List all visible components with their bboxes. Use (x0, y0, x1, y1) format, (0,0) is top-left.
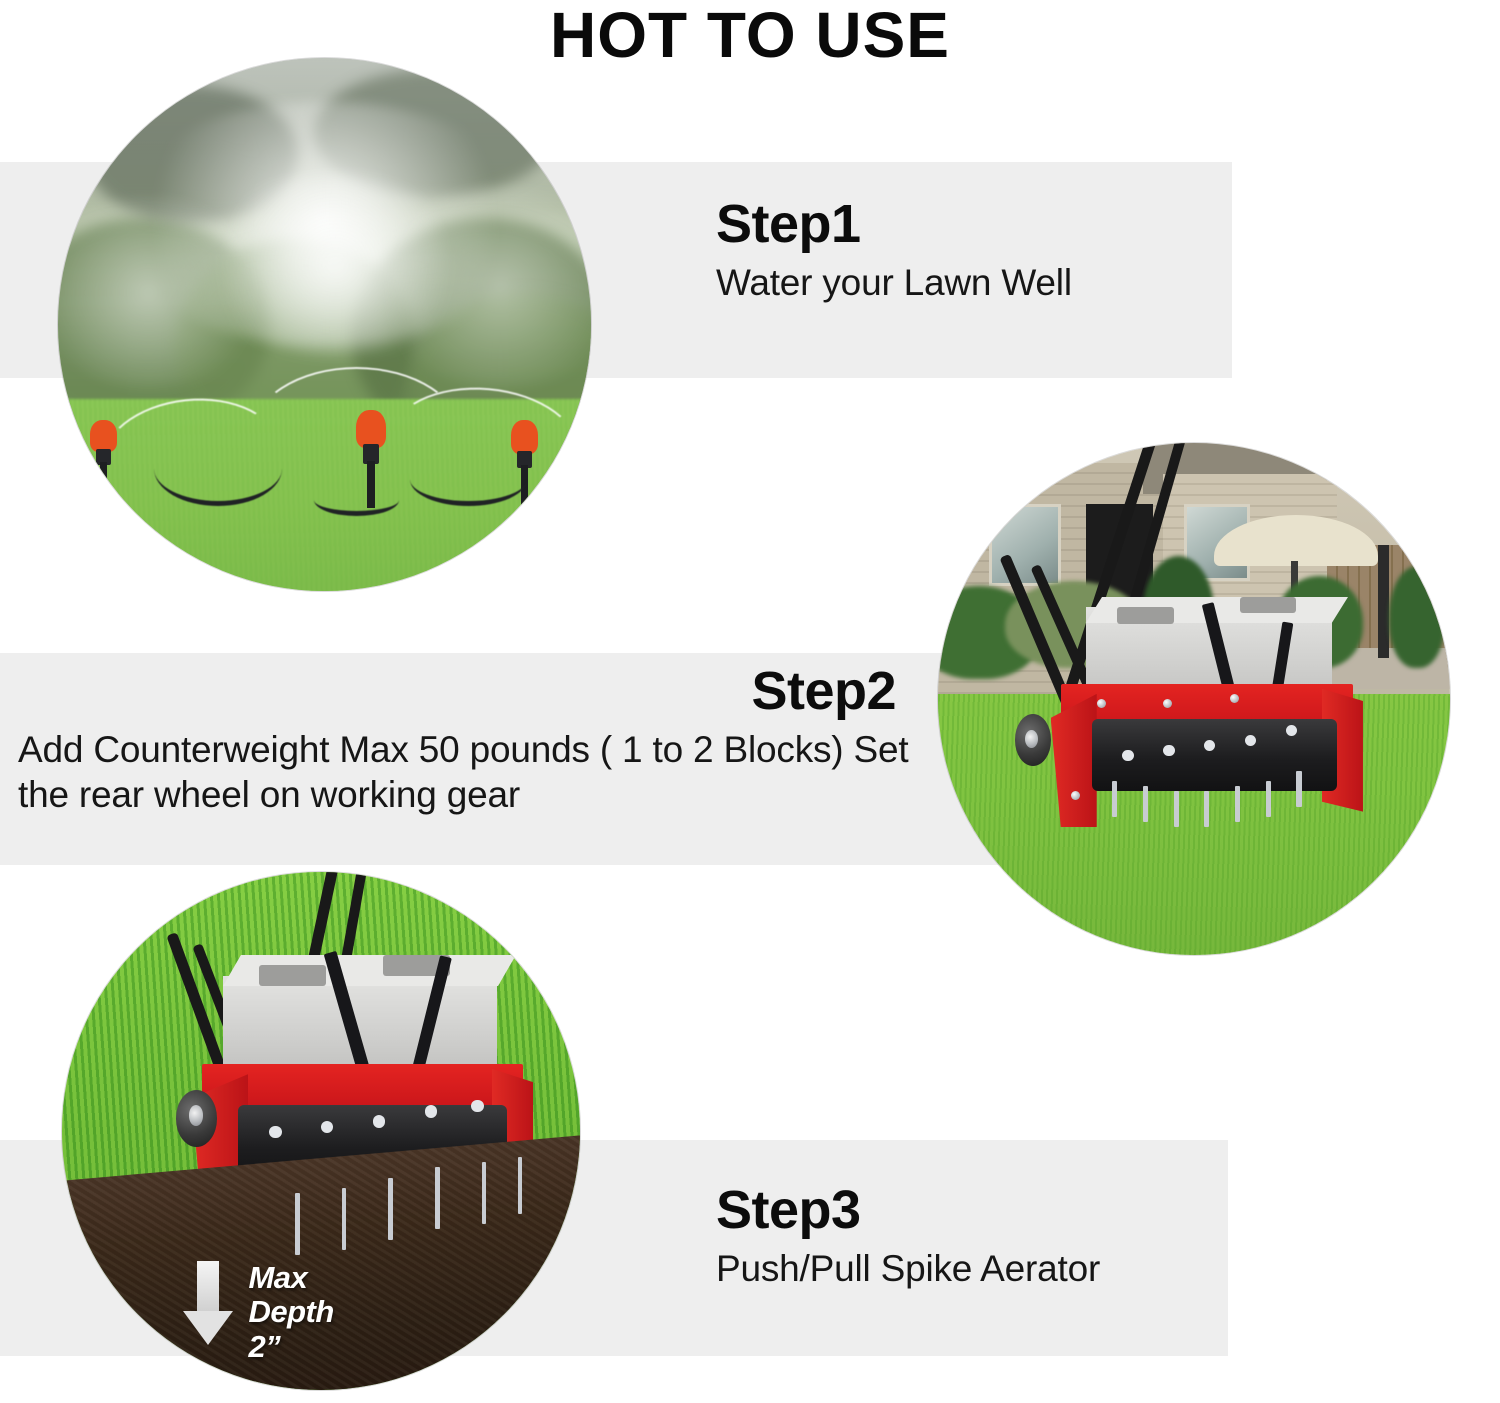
spike-head (1163, 745, 1174, 756)
frame-bolt (1097, 699, 1106, 708)
step3-heading: Step3 (716, 1182, 1236, 1239)
max-depth-line-3: 2” (248, 1330, 333, 1365)
spike-head (373, 1115, 385, 1127)
step1-text-block: Step1 Water your Lawn Well (716, 196, 1236, 305)
spike-head (269, 1126, 281, 1138)
aerator-spike-in-soil (295, 1193, 300, 1255)
step2-heading: Step2 (18, 663, 918, 720)
aerator-spike (1235, 786, 1240, 822)
max-depth-line-1: Max (248, 1261, 333, 1296)
step3-photo: Max Depth 2” (62, 872, 580, 1390)
aerator-spike (1143, 786, 1148, 822)
aerator-spike (1296, 771, 1301, 807)
aerator-spike-in-soil (518, 1157, 523, 1214)
max-depth-label: Max Depth 2” (248, 1261, 333, 1365)
garden-hose (154, 431, 282, 506)
step1-photo (58, 58, 591, 591)
block-cavity (1117, 607, 1173, 624)
aerator-spike-in-soil (342, 1188, 347, 1250)
step1-description: Water your Lawn Well (716, 260, 1236, 305)
aerator-cross-section-scene: Max Depth 2” (62, 872, 580, 1390)
aerator-spike (1112, 781, 1117, 817)
spike-head (1122, 750, 1133, 761)
aerator-spike-in-soil (388, 1178, 393, 1240)
aerator-spike-in-soil (435, 1167, 440, 1229)
sprinkler-head (90, 420, 117, 495)
spike-head (471, 1100, 483, 1112)
aerator-spike (1266, 781, 1271, 817)
block-cavity (1240, 597, 1296, 613)
house-window (989, 504, 1061, 586)
step3-text-block: Step3 Push/Pull Spike Aerator (716, 1182, 1236, 1291)
step1-heading: Step1 (716, 196, 1236, 253)
step2-photo (938, 443, 1450, 955)
sprinkler-scene (58, 58, 591, 591)
step3-description: Push/Pull Spike Aerator (716, 1246, 1236, 1291)
topiary-shrub (1389, 566, 1445, 668)
aerator-spike (1204, 791, 1209, 827)
step2-text-block: Step2 Add Counterweight Max 50 pounds ( … (18, 663, 918, 817)
patio-heater (1378, 545, 1388, 658)
backyard-scene (938, 443, 1450, 955)
block-cavity (259, 965, 326, 986)
aerator-spike-in-soil (482, 1162, 487, 1224)
max-depth-line-2: Depth (248, 1295, 333, 1330)
aerator-spike (1174, 791, 1179, 827)
frame-bolt (1230, 694, 1239, 703)
spike-head (425, 1105, 437, 1117)
step2-description: Add Counterweight Max 50 pounds ( 1 to 2… (18, 727, 918, 817)
infographic-page: HOT TO USE (0, 0, 1500, 1403)
garden-hose (410, 452, 527, 505)
